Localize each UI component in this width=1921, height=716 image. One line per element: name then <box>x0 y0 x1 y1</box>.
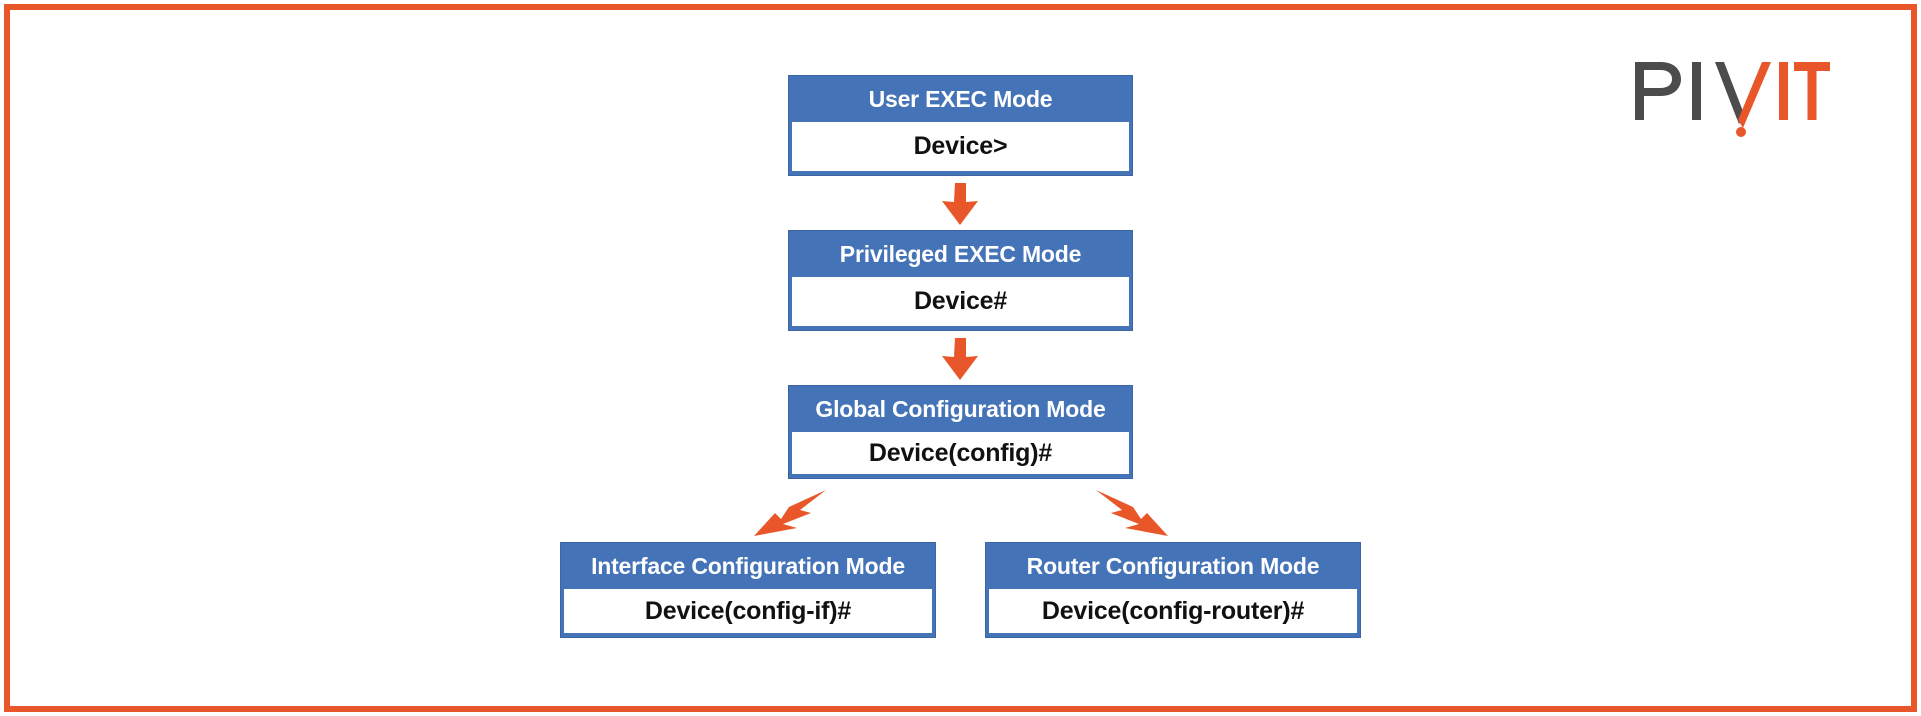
mode-box-global-config: Global Configuration Mode Device(config)… <box>788 385 1133 479</box>
pivit-logo <box>1631 58 1831 138</box>
mode-box-user-exec: User EXEC Mode Device> <box>788 75 1133 176</box>
mode-title-user-exec: User EXEC Mode <box>792 79 1129 122</box>
mode-box-privileged-exec: Privileged EXEC Mode Device# <box>788 230 1133 331</box>
mode-prompt-interface-config: Device(config-if)# <box>564 589 932 633</box>
mode-title-interface-config: Interface Configuration Mode <box>564 546 932 589</box>
mode-prompt-router-config: Device(config-router)# <box>989 589 1357 633</box>
mode-prompt-global-config: Device(config)# <box>792 432 1129 474</box>
mode-title-global-config: Global Configuration Mode <box>792 389 1129 432</box>
mode-prompt-user-exec: Device> <box>792 122 1129 171</box>
mode-prompt-privileged-exec: Device# <box>792 277 1129 326</box>
arrow-diagonal-right-global-to-router <box>1096 490 1168 536</box>
arrow-down-user-to-privileged <box>942 183 978 225</box>
mode-title-router-config: Router Configuration Mode <box>989 546 1357 589</box>
diagram-canvas: User EXEC Mode Device> Privileged EXEC M… <box>0 0 1921 716</box>
mode-box-interface-config: Interface Configuration Mode Device(conf… <box>560 542 936 638</box>
mode-title-privileged-exec: Privileged EXEC Mode <box>792 234 1129 277</box>
arrow-diagonal-left-global-to-interface <box>754 490 826 536</box>
mode-box-router-config: Router Configuration Mode Device(config-… <box>985 542 1361 638</box>
arrow-down-privileged-to-global <box>942 338 978 380</box>
